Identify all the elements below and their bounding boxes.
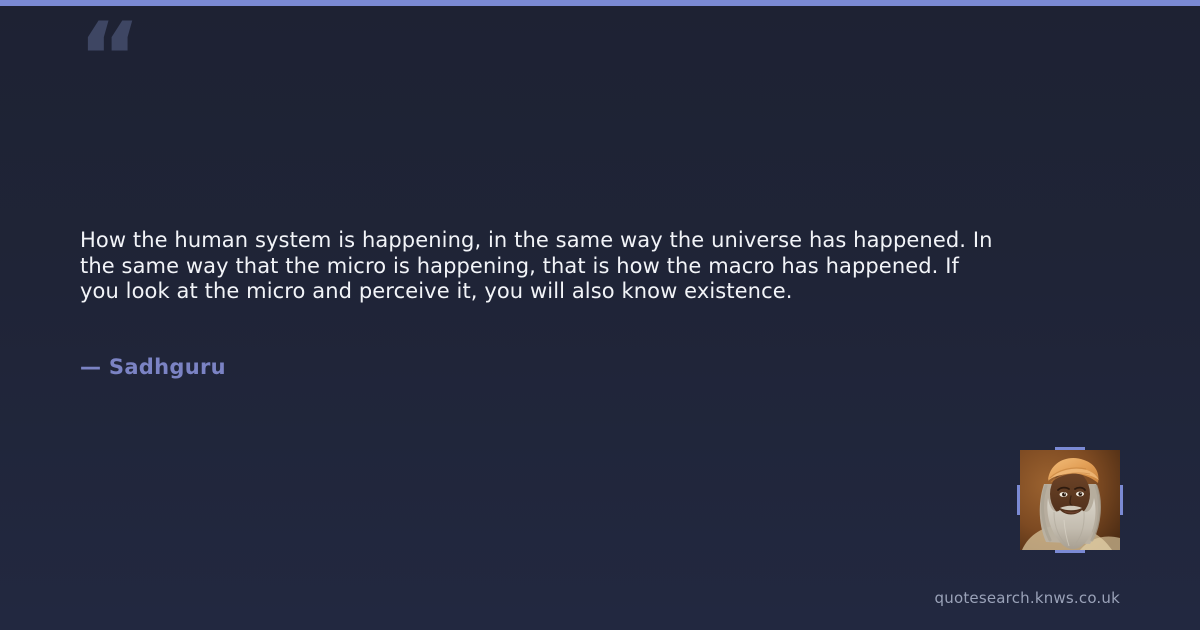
portrait-frame-tick-bottom: [1055, 550, 1085, 553]
quote-body: How the human system is happening, in th…: [80, 228, 1000, 305]
decorative-quote-icon: “: [78, 10, 139, 106]
quote-card: “ How the human system is happening, in …: [0, 0, 1200, 630]
source-url: quotesearch.knws.co.uk: [935, 589, 1120, 607]
author-portrait-image: [1020, 450, 1120, 550]
portrait-frame-tick-left: [1017, 485, 1020, 515]
author-portrait: [1020, 450, 1120, 550]
portrait-frame-tick-right: [1120, 485, 1123, 515]
portrait-frame-tick-top: [1055, 447, 1085, 450]
quote-text: How the human system is happening, in th…: [80, 228, 1000, 305]
top-accent-bar: [0, 0, 1200, 6]
quote-attribution: — Sadhguru: [80, 355, 226, 379]
